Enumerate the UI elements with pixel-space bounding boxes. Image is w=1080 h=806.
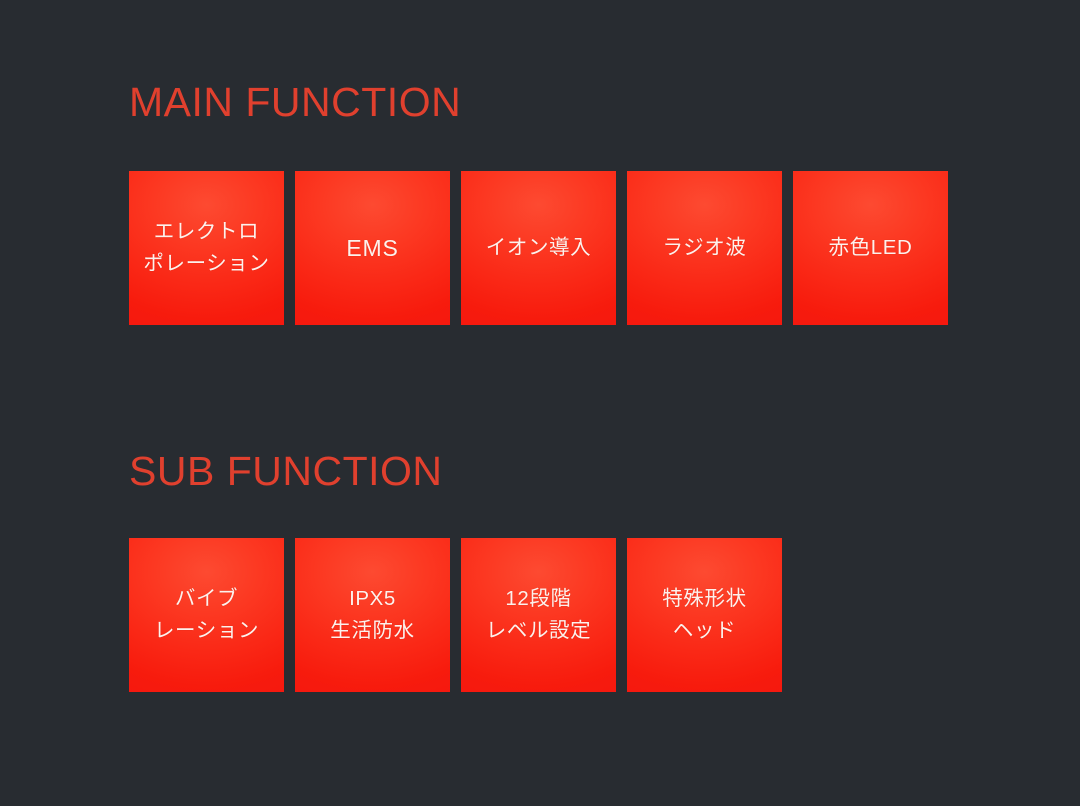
function-card-electroporation[interactable]: エレクトロ ポレーション [129, 171, 284, 325]
function-card-label: エレクトロ ポレーション [143, 216, 269, 281]
function-card-label: 特殊形状 ヘッド [662, 583, 746, 648]
feature-grid-page: MAIN FUNCTION エレクトロ ポレーション EMS イオン導入 ラジオ… [0, 0, 1080, 806]
sub-function-card-row: バイブ レーション IPX5 生活防水 12段階 レベル設定 特殊形状 ヘッド [129, 538, 782, 692]
function-card-vibration[interactable]: バイブ レーション [129, 538, 284, 692]
function-card-label: ラジオ波 [663, 232, 747, 264]
function-card-label: 12段階 レベル設定 [486, 583, 592, 648]
function-card-ipx5-waterproof[interactable]: IPX5 生活防水 [295, 538, 450, 692]
function-card-label: 赤色LED [829, 232, 913, 264]
function-card-label: バイブ レーション [154, 583, 259, 648]
function-card-iontophoresis[interactable]: イオン導入 [461, 171, 616, 325]
function-card-special-head[interactable]: 特殊形状 ヘッド [627, 538, 782, 692]
function-card-ems[interactable]: EMS [295, 171, 450, 325]
function-card-label: IPX5 生活防水 [330, 583, 414, 648]
function-card-label: イオン導入 [486, 232, 592, 264]
function-card-red-led[interactable]: 赤色LED [793, 171, 948, 325]
main-function-card-row: エレクトロ ポレーション EMS イオン導入 ラジオ波 赤色LED [129, 171, 948, 325]
function-card-radio-wave[interactable]: ラジオ波 [627, 171, 782, 325]
function-card-12-level-setting[interactable]: 12段階 レベル設定 [461, 538, 616, 692]
section-heading-sub-function: SUB FUNCTION [129, 451, 443, 492]
section-heading-main-function: MAIN FUNCTION [129, 82, 461, 123]
function-card-label: EMS [346, 230, 398, 266]
